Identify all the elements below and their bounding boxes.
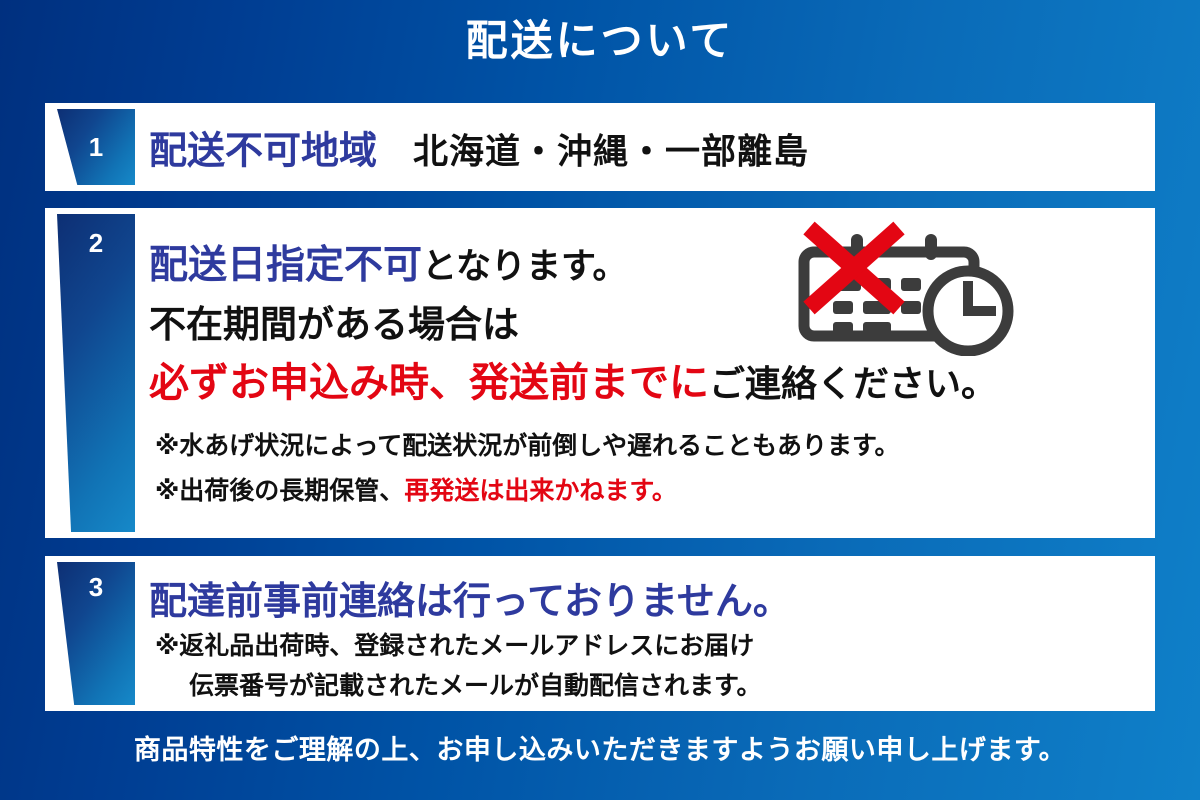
section-2-note-2-emphasis: 再発送は出来かねます。: [404, 477, 677, 505]
section-3-heading: 配達前事前連絡は行っておりません。: [149, 570, 791, 625]
section-1-row: 配送不可地域北海道・沖縄・一部離島: [149, 120, 809, 175]
section-number-3: 3: [89, 572, 103, 705]
section-2-line-1: 配送日指定不可となります。: [149, 234, 627, 290]
shipping-info-poster: 配送について 1 配送不可地域北海道・沖縄・一部離島 2 配送日指定不可となりま…: [0, 0, 1200, 800]
section-2-line-3: 必ずお申込み時、発送前までにご連絡ください。: [149, 350, 997, 408]
section-number-1: 1: [89, 132, 103, 163]
section-number-2: 2: [89, 228, 103, 532]
section-body-1: 配送不可地域北海道・沖縄・一部離島: [149, 103, 1145, 191]
section-card-1: 1 配送不可地域北海道・沖縄・一部離島: [45, 103, 1155, 191]
section-number-badge-2: 2: [57, 214, 135, 532]
section-body-2: 配送日指定不可となります。 不在期間がある場合は 必ずお申込み時、発送前までにご…: [149, 208, 1145, 538]
page-title: 配送について: [0, 18, 1200, 64]
section-2-line-3-emphasis: 必ずお申込み時、発送前までに: [149, 361, 709, 405]
section-1-heading: 配送不可地域: [149, 131, 377, 173]
section-2-line-3-tail: ご連絡ください。: [709, 363, 997, 404]
section-card-3: 3 配達前事前連絡は行っておりません。 ※返礼品出荷時、登録されたメールアドレス…: [45, 556, 1155, 711]
section-card-2: 2 配送日指定不可となります。 不在期間がある場合は 必ずお申込み時、発送前まで…: [45, 208, 1155, 538]
section-3-note-line-1: ※返礼品出荷時、登録されたメールアドレスにお届け: [155, 626, 754, 662]
section-number-badge-1: 1: [57, 109, 135, 185]
section-2-note-1: ※水あげ状況によって配送状況が前倒しや遅れることもあります。: [155, 426, 900, 462]
section-2-note-2: ※出荷後の長期保管、再発送は出来かねます。: [155, 471, 677, 507]
section-2-line-1-emphasis: 配送日指定不可: [149, 244, 422, 287]
section-number-badge-3: 3: [57, 562, 135, 705]
section-body-3: 配達前事前連絡は行っておりません。 ※返礼品出荷時、登録されたメールアドレスにお…: [149, 556, 1145, 711]
calendar-clock-not-allowed-icon: [791, 216, 1041, 356]
section-2-line-2: 不在期間がある場合は: [149, 294, 519, 348]
section-2-line-1-tail: となります。: [422, 247, 627, 286]
footer-text: 商品特性をご理解の上、お申し込みいただきますようお願い申し上げます。: [0, 728, 1200, 767]
section-2-note-2-lead: ※出荷後の長期保管、: [155, 477, 404, 505]
section-1-regions: 北海道・沖縄・一部離島: [413, 133, 809, 172]
section-3-note-line-2: 伝票番号が記載されたメールが自動配信されます。: [189, 666, 762, 702]
